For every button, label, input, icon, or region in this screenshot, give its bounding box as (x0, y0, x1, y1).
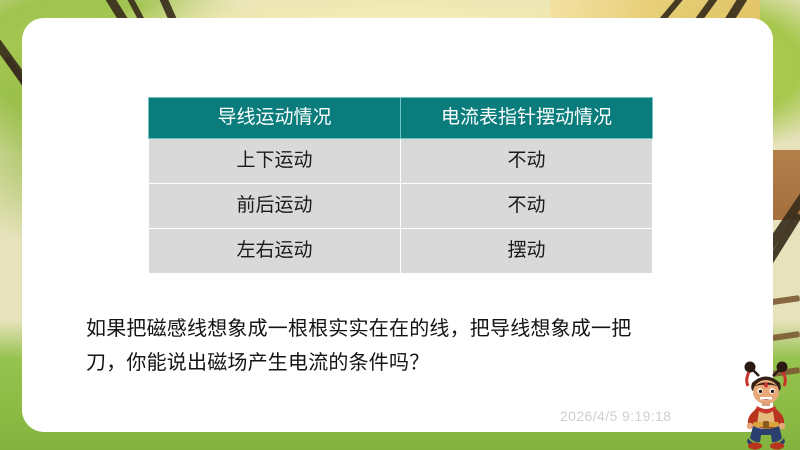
cell-motion: 上下运动 (149, 139, 401, 184)
question-paragraph: 如果把磁感线想象成一根根实实在在的线，把导线想象成一把 刀，你能说出磁场产生电流… (86, 312, 686, 380)
experiment-table-wrapper: 导线运动情况 电流表指针摆动情况 上下运动 不动 前后运动 不动 左右运动 摆动 (148, 97, 652, 274)
nezha-character-mascot (735, 356, 797, 450)
cell-motion: 前后运动 (149, 184, 401, 229)
table-row: 前后运动 不动 (149, 184, 653, 229)
question-line-2: 刀，你能说出磁场产生电流的条件吗？ (86, 346, 686, 380)
table-header-motion: 导线运动情况 (149, 98, 401, 139)
table-row: 上下运动 不动 (149, 139, 653, 184)
cell-motion: 左右运动 (149, 229, 401, 274)
table-header-row: 导线运动情况 电流表指针摆动情况 (149, 98, 653, 139)
experiment-table: 导线运动情况 电流表指针摆动情况 上下运动 不动 前后运动 不动 左右运动 摆动 (148, 97, 653, 274)
table-row: 左右运动 摆动 (149, 229, 653, 274)
timestamp-watermark: 2026/4/5 9:19:18 (560, 408, 672, 424)
question-line-1: 如果把磁感线想象成一根根实实在在的线，把导线想象成一把 (86, 312, 686, 346)
cell-needle: 不动 (401, 184, 653, 229)
slide-canvas: 导线运动情况 电流表指针摆动情况 上下运动 不动 前后运动 不动 左右运动 摆动 (0, 0, 800, 450)
cell-needle: 不动 (401, 139, 653, 184)
table-header-needle: 电流表指针摆动情况 (401, 98, 653, 139)
cell-needle: 摆动 (401, 229, 653, 274)
